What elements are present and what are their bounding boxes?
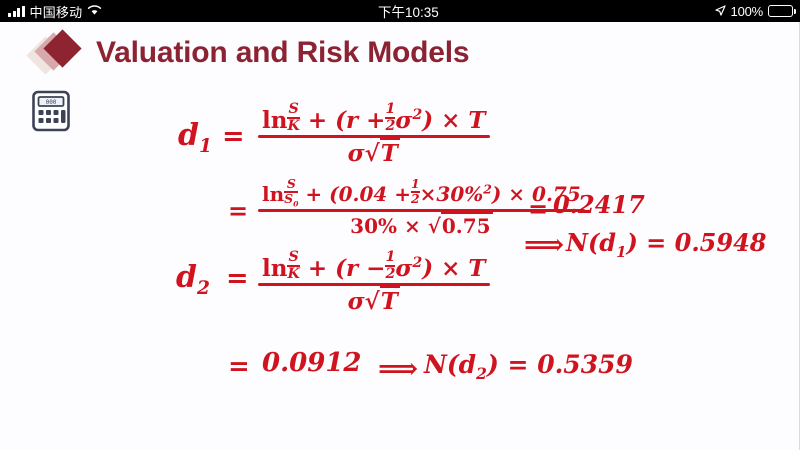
arrow-to-nd2: ⟹ (378, 352, 418, 385)
slide-page: Valuation and Risk Models 000 d1 = lnSK … (0, 22, 800, 450)
arrow-to-nd1: ⟹ (524, 228, 564, 261)
status-bar-left: 中国移动 (0, 2, 102, 21)
d1-label: d1 (178, 118, 212, 157)
d1-denominator: σ√T (258, 138, 490, 167)
status-bar: 中国移动 下午10:35 100% (0, 0, 800, 22)
d1-sub-equals: = (228, 196, 248, 225)
d2-numerator: lnSK + (r −12σ2) × T (258, 250, 490, 283)
wifi-icon (87, 4, 102, 19)
d2-equals: = (226, 263, 249, 294)
battery-percent-label: 100% (731, 4, 763, 19)
d2-label: d2 (176, 260, 210, 299)
handwritten-notes: d1 = lnSK + (r +12σ2) × T σ√T = lnSS0 + … (0, 22, 799, 450)
d2-denominator: σ√T (258, 286, 490, 315)
d1-result-value: 0.2417 (553, 190, 645, 219)
d1-numerator: lnSK + (r +12σ2) × T (258, 102, 490, 135)
battery-full-icon (768, 5, 793, 17)
status-bar-time: 下午10:35 (102, 1, 714, 21)
d1-result-equals: = (528, 194, 548, 223)
d1-fraction: lnSK + (r +12σ2) × T σ√T (258, 102, 490, 167)
d2-fraction: lnSK + (r −12σ2) × T σ√T (258, 250, 490, 315)
d1-equals: = (222, 121, 245, 152)
nd1-expression: N(d1) = 0.5948 (566, 228, 766, 261)
nd2-expression: N(d2) = 0.5359 (424, 350, 633, 383)
d2-result-equals: = (228, 352, 250, 382)
status-bar-right: 100% (715, 4, 800, 19)
signal-bars-icon (8, 6, 25, 17)
carrier-label: 中国移动 (30, 2, 83, 21)
d2-result-value: 0.0912 (262, 348, 362, 378)
location-arrow-icon (715, 4, 726, 19)
